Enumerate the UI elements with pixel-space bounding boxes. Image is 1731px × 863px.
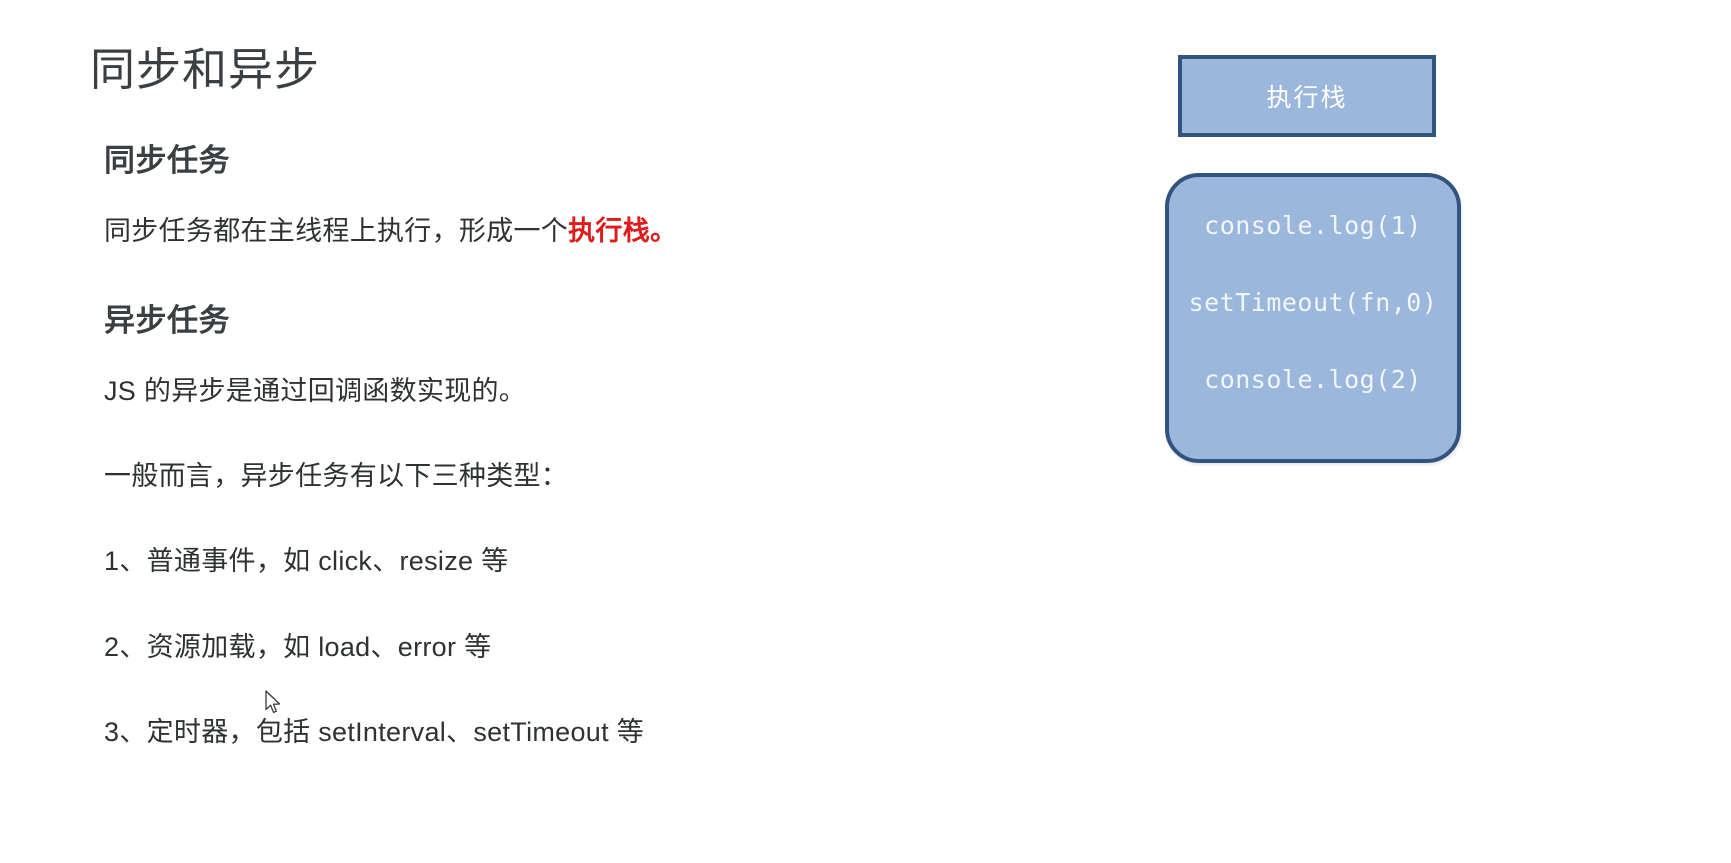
paragraph-async-callback: JS 的异步是通过回调函数实现的。 [104, 370, 1010, 413]
execution-stack-diagram: 执行栈 console.log(1) setTimeout(fn,0) cons… [1160, 0, 1580, 863]
emphasis-execution-stack: 执行栈。 [568, 216, 677, 246]
section-heading-async: 异步任务 [104, 295, 1010, 340]
execution-stack-frames-box: console.log(1) setTimeout(fn,0) console.… [1165, 173, 1461, 463]
paragraph-sync-tasks: 同步任务都在主线程上执行，形成一个执行栈。 [104, 210, 1010, 253]
stack-frame-settimeout: setTimeout(fn,0) [1169, 288, 1457, 317]
list-item-timers: 3、定时器，包括 setInterval、setTimeout 等 [104, 711, 1010, 754]
section-heading-sync: 同步任务 [104, 135, 1010, 180]
page-title: 同步和异步 [90, 40, 1010, 101]
execution-stack-title-label: 执行栈 [1266, 78, 1347, 114]
list-item-common-events: 1、普通事件，如 click、resize 等 [104, 540, 1010, 583]
article-content: 同步和异步 同步任务 同步任务都在主线程上执行，形成一个执行栈。 异步任务 JS… [0, 0, 1050, 863]
list-item-resource-loading: 2、资源加载，如 load、error 等 [104, 626, 1010, 669]
stack-frame-console-log-2: console.log(2) [1169, 365, 1457, 394]
page-root: 同步和异步 同步任务 同步任务都在主线程上执行，形成一个执行栈。 异步任务 JS… [0, 0, 1731, 863]
paragraph-sync-text: 同步任务都在主线程上执行，形成一个 [104, 216, 568, 246]
execution-stack-title-box: 执行栈 [1178, 55, 1436, 137]
paragraph-async-types-intro: 一般而言，异步任务有以下三种类型： [104, 455, 1010, 498]
stack-frame-console-log-1: console.log(1) [1169, 211, 1457, 240]
